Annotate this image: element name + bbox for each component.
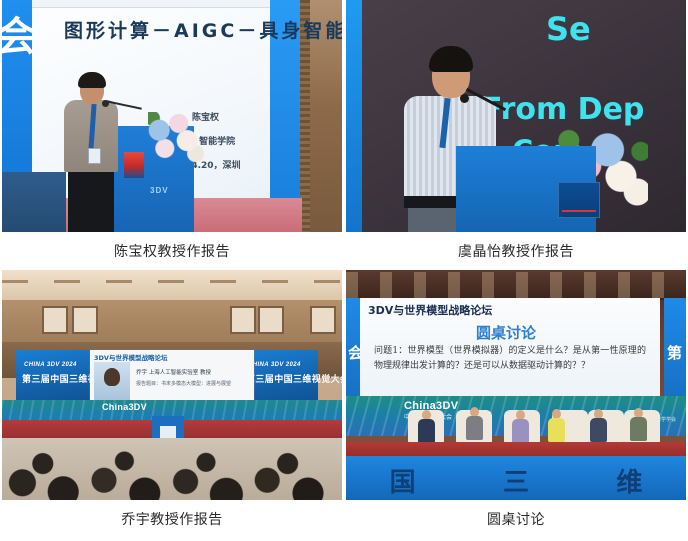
photo-gallery: 会 图形计算－AIGC－具身智能 陈宝权 大学 智能学院 20 .04.20，深… — [0, 0, 688, 538]
slide-text-line-2: From Dep — [482, 92, 644, 127]
microphone-head — [460, 94, 469, 103]
screen-question-text: 问题1：世界模型（世界模拟器）的定义是什么？是从第一性原理的物理规律出发计算的？… — [374, 344, 646, 374]
stage-logo: China3DV — [102, 402, 147, 412]
speaker-hair — [78, 72, 106, 88]
photo-qiao-yu-talk[interactable]: CHINA 3DV 2024 第三届中国三维视觉大会 CHINA 3DV 202… — [2, 270, 342, 500]
speaker-legs — [68, 166, 114, 232]
wall-art-3 — [230, 306, 256, 334]
photo-caption: 陈宝权教授作报告 — [0, 232, 344, 270]
microphone-head — [102, 100, 109, 107]
wall-art-1 — [42, 306, 68, 334]
panelist-body-3 — [512, 419, 529, 443]
screen-talk-topic: 报告题目：书末多模态大模型：进展与展望 — [136, 380, 231, 387]
banner-right-char: 第 — [667, 342, 682, 363]
flower-arrangement — [148, 112, 204, 164]
banner-left-en: CHINA 3DV 2024 — [24, 362, 77, 368]
banner-right-en: CHINA 3DV 2024 — [248, 362, 301, 368]
hall-upper-wall — [346, 270, 686, 300]
stage-banner-left — [346, 0, 362, 232]
gallery-cell-1: 会 图形计算－AIGC－具身智能 陈宝权 大学 智能学院 20 .04.20，深… — [0, 0, 344, 270]
lower-banner-text: 国 三 维 — [346, 460, 686, 500]
screen-speaker-name: 乔宇 上海人工智能实验室 教授 — [136, 368, 211, 376]
speaker-portrait — [94, 362, 130, 400]
wall-art-5 — [310, 306, 336, 334]
podium-logo — [558, 182, 600, 218]
podium-logo: 3DV — [150, 186, 169, 195]
screen-forum-title: 3DV与世界模型战略论坛 — [94, 352, 167, 362]
banner-left-char: 会 — [2, 14, 36, 60]
panelist-body-5 — [590, 418, 607, 442]
banner-right-cn: 第三届中国三维视觉大会 — [246, 372, 342, 385]
slide-text-line-1: Se — [546, 10, 591, 48]
slide-title: 图形计算－AIGC－具身智能 — [64, 18, 324, 44]
panelist-body-1 — [418, 419, 435, 443]
photo-caption: 虞晶怡教授作报告 — [344, 232, 688, 270]
lower-banner-char-2: 三 — [503, 462, 529, 499]
audience-crowd — [2, 438, 342, 500]
photo-roundtable-discussion[interactable]: 会 第 3DV与世界模型战略论坛 圆桌讨论 问题1：世界模型（世界模拟器）的定义… — [346, 270, 686, 500]
wall-art-2 — [72, 306, 98, 334]
photo-yu-jingyi-talk[interactable]: Se From Dep Com — [346, 0, 686, 232]
gallery-cell-4: 会 第 3DV与世界模型战略论坛 圆桌讨论 问题1：世界模型（世界模拟器）的定义… — [344, 270, 688, 538]
photo-caption: 乔宇教授作报告 — [0, 500, 344, 538]
gallery-cell-3: CHINA 3DV 2024 第三届中国三维视觉大会 CHINA 3DV 202… — [0, 270, 344, 538]
panelist-body-4 — [548, 418, 565, 442]
photo-chen-baoquan-talk[interactable]: 会 图形计算－AIGC－具身智能 陈宝权 大学 智能学院 20 .04.20，深… — [2, 0, 342, 232]
wall-art-4 — [258, 306, 284, 334]
speaker-badge — [88, 148, 101, 164]
stage-floor-side — [2, 172, 66, 232]
hall-ceiling — [2, 270, 342, 304]
photo-caption: 圆桌讨论 — [344, 500, 688, 538]
panelist-body-2 — [466, 416, 483, 440]
lower-banner-char-1: 国 — [390, 462, 416, 499]
panelist-body-6 — [630, 417, 647, 441]
screen-section-title: 圆桌讨论 — [476, 322, 536, 343]
screen-forum-title: 3DV与世界模型战略论坛 — [368, 302, 492, 318]
lower-banner-char-3: 维 — [616, 462, 642, 499]
gallery-cell-2: Se From Dep Com 虞晶怡教授作报告 — [344, 0, 688, 270]
